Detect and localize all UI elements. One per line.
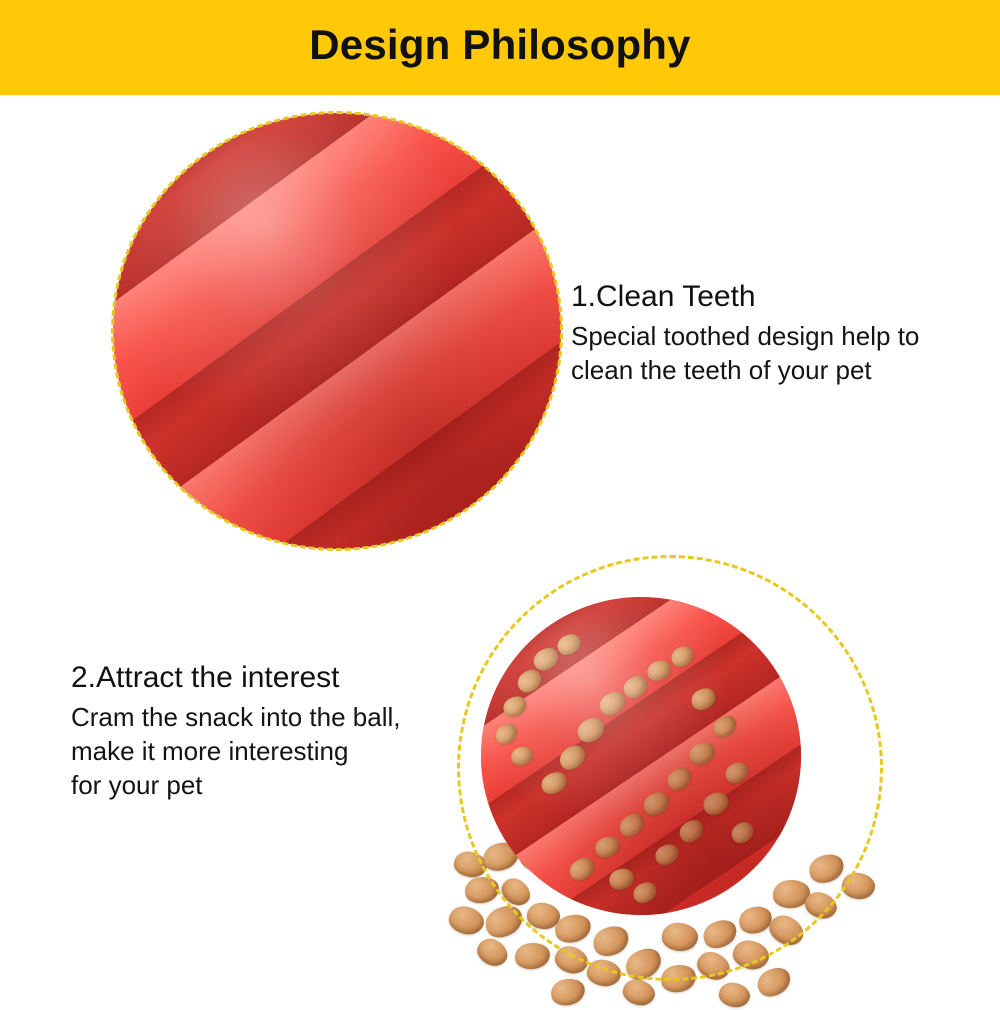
feature-clean-teeth-text: 1.Clean Teeth Special toothed design hel… [571,281,991,387]
highlight-dashed-circle [111,111,563,551]
clean-teeth-product-image [113,113,561,549]
feature-heading-clean-teeth: 1.Clean Teeth [571,281,991,313]
feature-body-clean-teeth: Special toothed design help to clean the… [571,319,991,388]
attract-interest-product-image [457,555,883,1000]
feature-body-line: Cram the snack into the ball, [71,700,471,734]
kibble-piece [717,980,752,1010]
feature-body-line: Special toothed design help to [571,319,991,353]
feature-attract-interest-text: 2.Attract the interest Cram the snack in… [71,662,471,802]
feature-body-line: make it more interesting [71,734,471,768]
kibble-piece [514,941,552,971]
kibble-piece [549,976,588,1009]
header-banner: Design Philosophy [0,0,1000,95]
feature-body-attract-interest: Cram the snack into the ball, make it mo… [71,700,471,803]
page-title: Design Philosophy [309,24,690,66]
feature-heading-attract-interest: 2.Attract the interest [71,662,471,694]
kibble-piece [473,934,513,972]
highlight-dashed-circle [457,555,883,981]
kibble-piece [620,976,658,1010]
feature-body-line: for your pet [71,768,471,802]
feature-body-line: clean the teeth of your pet [571,353,991,387]
